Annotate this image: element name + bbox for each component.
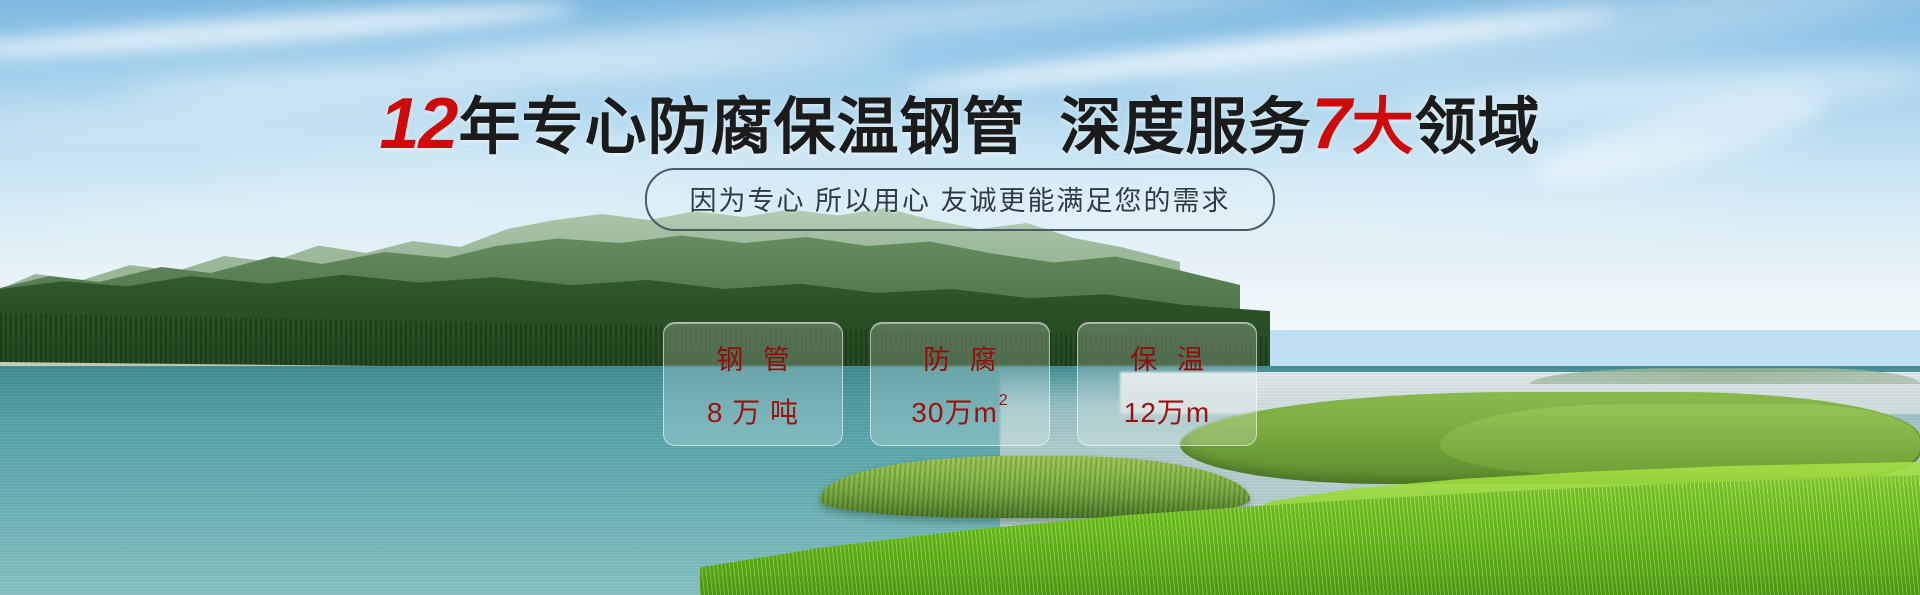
banner-headline: 12年专心防腐保温钢管深度服务7大领域 xyxy=(0,88,1920,160)
headline-segment-one: 年专心防腐保温钢管 xyxy=(458,93,1025,162)
subtitle-wrapper: 因为专心 所以用心 友诚更能满足您的需求 xyxy=(0,168,1920,231)
stat-card-value-text: 8 万 吨 xyxy=(707,391,799,431)
headline-segment-two-after: 领域 xyxy=(1415,93,1541,162)
banner-subtitle-pill: 因为专心 所以用心 友诚更能满足您的需求 xyxy=(645,168,1274,231)
headline-segment-two-before: 深度服务 xyxy=(1060,93,1312,162)
stat-card-value: 8 万 吨 xyxy=(707,391,799,431)
stat-card-value: 12万m xyxy=(1124,391,1210,431)
stat-card-steel-pipe[interactable]: 钢 管 8 万 吨 xyxy=(663,322,843,446)
headline-years-number: 12 xyxy=(379,84,457,164)
stat-card-value-superscript: 2 xyxy=(999,393,1009,409)
headline-fields-number: 7 xyxy=(1312,84,1351,164)
stat-card-title: 钢 管 xyxy=(710,338,796,377)
stat-card-title: 保 温 xyxy=(1124,338,1210,377)
stat-card-insulation[interactable]: 保 温 12万m xyxy=(1077,322,1257,446)
stat-card-value: 30万m2 xyxy=(911,391,1008,431)
stat-card-value-text: 12万m xyxy=(1124,391,1210,431)
grass-island xyxy=(820,456,1250,518)
headline-fields-unit: 大 xyxy=(1352,93,1415,162)
stat-card-anticorrosion[interactable]: 防 腐 30万m2 xyxy=(870,322,1050,446)
stat-card-value-text: 30万m xyxy=(911,391,997,431)
stat-card-row: 钢 管 8 万 吨 防 腐 30万m2 保 温 12万m xyxy=(0,322,1920,446)
hero-banner: 12年专心防腐保温钢管深度服务7大领域 因为专心 所以用心 友诚更能满足您的需求… xyxy=(0,0,1920,595)
stat-card-title: 防 腐 xyxy=(917,338,1003,377)
